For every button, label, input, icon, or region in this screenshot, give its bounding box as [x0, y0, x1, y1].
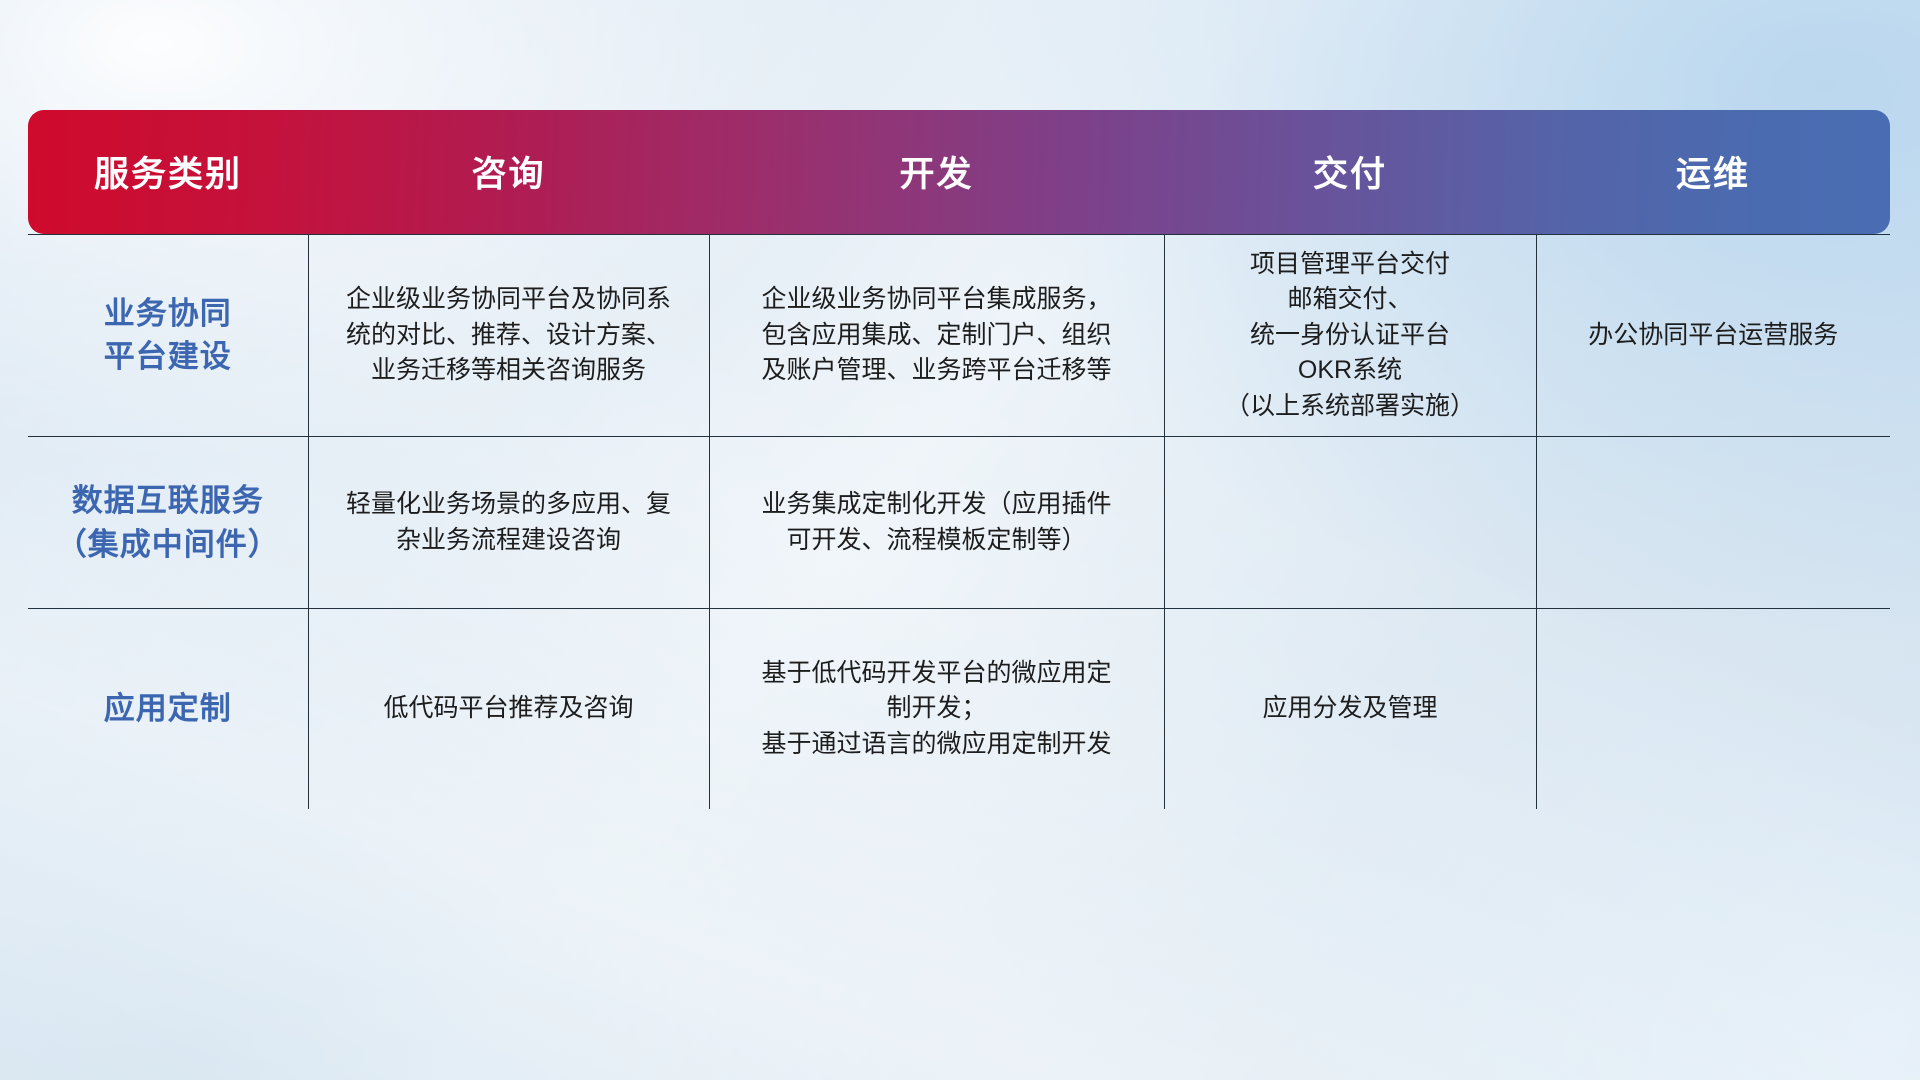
cell-consulting: 低代码平台推荐及咨询 [308, 609, 709, 809]
row-category-label: 业务协同 平台建设 [28, 234, 308, 437]
table-row: 业务协同 平台建设 企业级业务协同平台及协同系 统的对比、推荐、设计方案、 业务… [28, 234, 1890, 437]
row-category-label: 数据互联服务 （集成中间件） [28, 437, 308, 609]
column-header-operations: 运维 [1536, 110, 1890, 234]
page-canvas: 服务类别 咨询 开发 交付 运维 业务协同 平台建设 企业级业务协同平台及协同系… [0, 0, 1920, 1080]
cell-delivery: 应用分发及管理 [1164, 609, 1536, 809]
cell-delivery: 项目管理平台交付 邮箱交付、 统一身份认证平台 OKR系统 （以上系统部署实施） [1164, 234, 1536, 437]
row-category-label: 应用定制 [28, 609, 308, 809]
column-header-delivery: 交付 [1164, 110, 1536, 234]
column-header-category: 服务类别 [28, 110, 308, 234]
table-row: 应用定制 低代码平台推荐及咨询 基于低代码开发平台的微应用定 制开发； 基于通过… [28, 609, 1890, 809]
header-row: 服务类别 咨询 开发 交付 运维 [28, 110, 1890, 234]
table-row: 数据互联服务 （集成中间件） 轻量化业务场景的多应用、复 杂业务流程建设咨询 业… [28, 437, 1890, 609]
table-header: 服务类别 咨询 开发 交付 运维 [28, 110, 1890, 234]
column-header-development: 开发 [709, 110, 1164, 234]
table-body: 业务协同 平台建设 企业级业务协同平台及协同系 统的对比、推荐、设计方案、 业务… [28, 234, 1890, 809]
service-matrix-table: 服务类别 咨询 开发 交付 运维 业务协同 平台建设 企业级业务协同平台及协同系… [28, 110, 1890, 809]
cell-consulting: 轻量化业务场景的多应用、复 杂业务流程建设咨询 [308, 437, 709, 609]
column-header-consulting: 咨询 [308, 110, 709, 234]
cell-operations [1536, 437, 1890, 609]
cell-consulting: 企业级业务协同平台及协同系 统的对比、推荐、设计方案、 业务迁移等相关咨询服务 [308, 234, 709, 437]
cell-delivery [1164, 437, 1536, 609]
cell-development: 基于低代码开发平台的微应用定 制开发； 基于通过语言的微应用定制开发 [709, 609, 1164, 809]
cell-operations [1536, 609, 1890, 809]
cell-development: 企业级业务协同平台集成服务， 包含应用集成、定制门户、组织 及账户管理、业务跨平… [709, 234, 1164, 437]
cell-operations: 办公协同平台运营服务 [1536, 234, 1890, 437]
cell-development: 业务集成定制化开发（应用插件 可开发、流程模板定制等） [709, 437, 1164, 609]
service-matrix-table-wrapper: 服务类别 咨询 开发 交付 运维 业务协同 平台建设 企业级业务协同平台及协同系… [28, 110, 1890, 809]
